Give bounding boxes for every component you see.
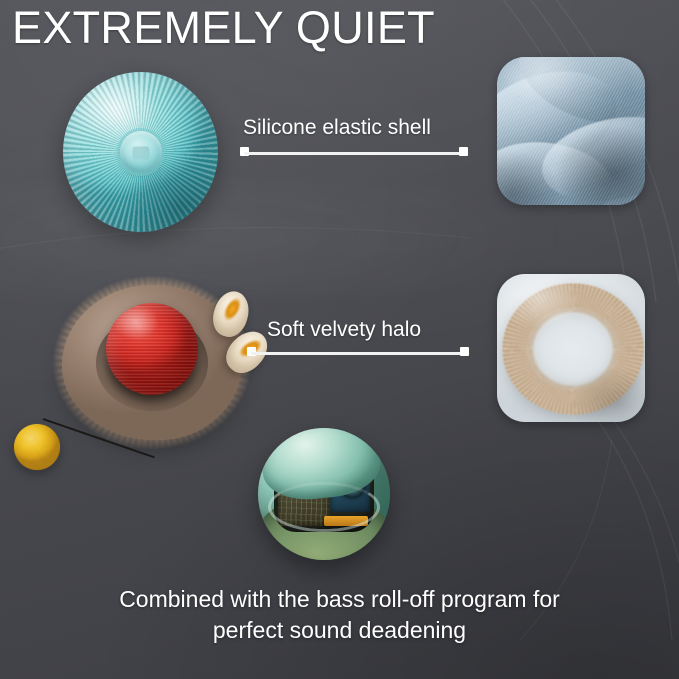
thumbnail-draped-fabric bbox=[497, 57, 645, 205]
red-ball bbox=[106, 303, 198, 395]
cutaway-rim bbox=[268, 482, 380, 532]
ball-button-icon bbox=[120, 131, 162, 173]
connector-line-silicone-shell bbox=[240, 147, 468, 159]
product-infographic: EXTREMELY QUIET Silicone elastic shell bbox=[0, 0, 679, 679]
connector-cap-right-icon bbox=[460, 347, 469, 356]
fabric-image bbox=[497, 57, 645, 205]
red-ball-sheen bbox=[106, 303, 198, 395]
thumbnail-fur-ring bbox=[497, 274, 645, 422]
connector-bar bbox=[251, 352, 465, 355]
caption-line-1: Combined with the bass roll-off program … bbox=[0, 584, 679, 615]
connector-line-velvety-halo bbox=[247, 347, 469, 359]
fur-ring-image bbox=[497, 274, 645, 422]
product-image-velvety-halo bbox=[62, 285, 272, 455]
product-image-silicone-ball bbox=[63, 72, 218, 232]
caption-line-2: perfect sound deadening bbox=[0, 615, 679, 646]
fur-ring-shading bbox=[497, 274, 645, 422]
page-title: EXTREMELY QUIET bbox=[12, 2, 435, 54]
bottom-caption: Combined with the bass roll-off program … bbox=[0, 584, 679, 646]
feature-label-velvety-halo: Soft velvety halo bbox=[267, 318, 421, 342]
connector-cap-right-icon bbox=[459, 147, 468, 156]
yellow-pom-pom bbox=[14, 424, 60, 470]
fabric-shading bbox=[497, 57, 645, 205]
cutaway-shell bbox=[258, 428, 390, 560]
feature-label-silicone-shell: Silicone elastic shell bbox=[243, 116, 431, 140]
connector-bar bbox=[244, 152, 464, 155]
product-image-cutaway-ball bbox=[258, 428, 390, 560]
